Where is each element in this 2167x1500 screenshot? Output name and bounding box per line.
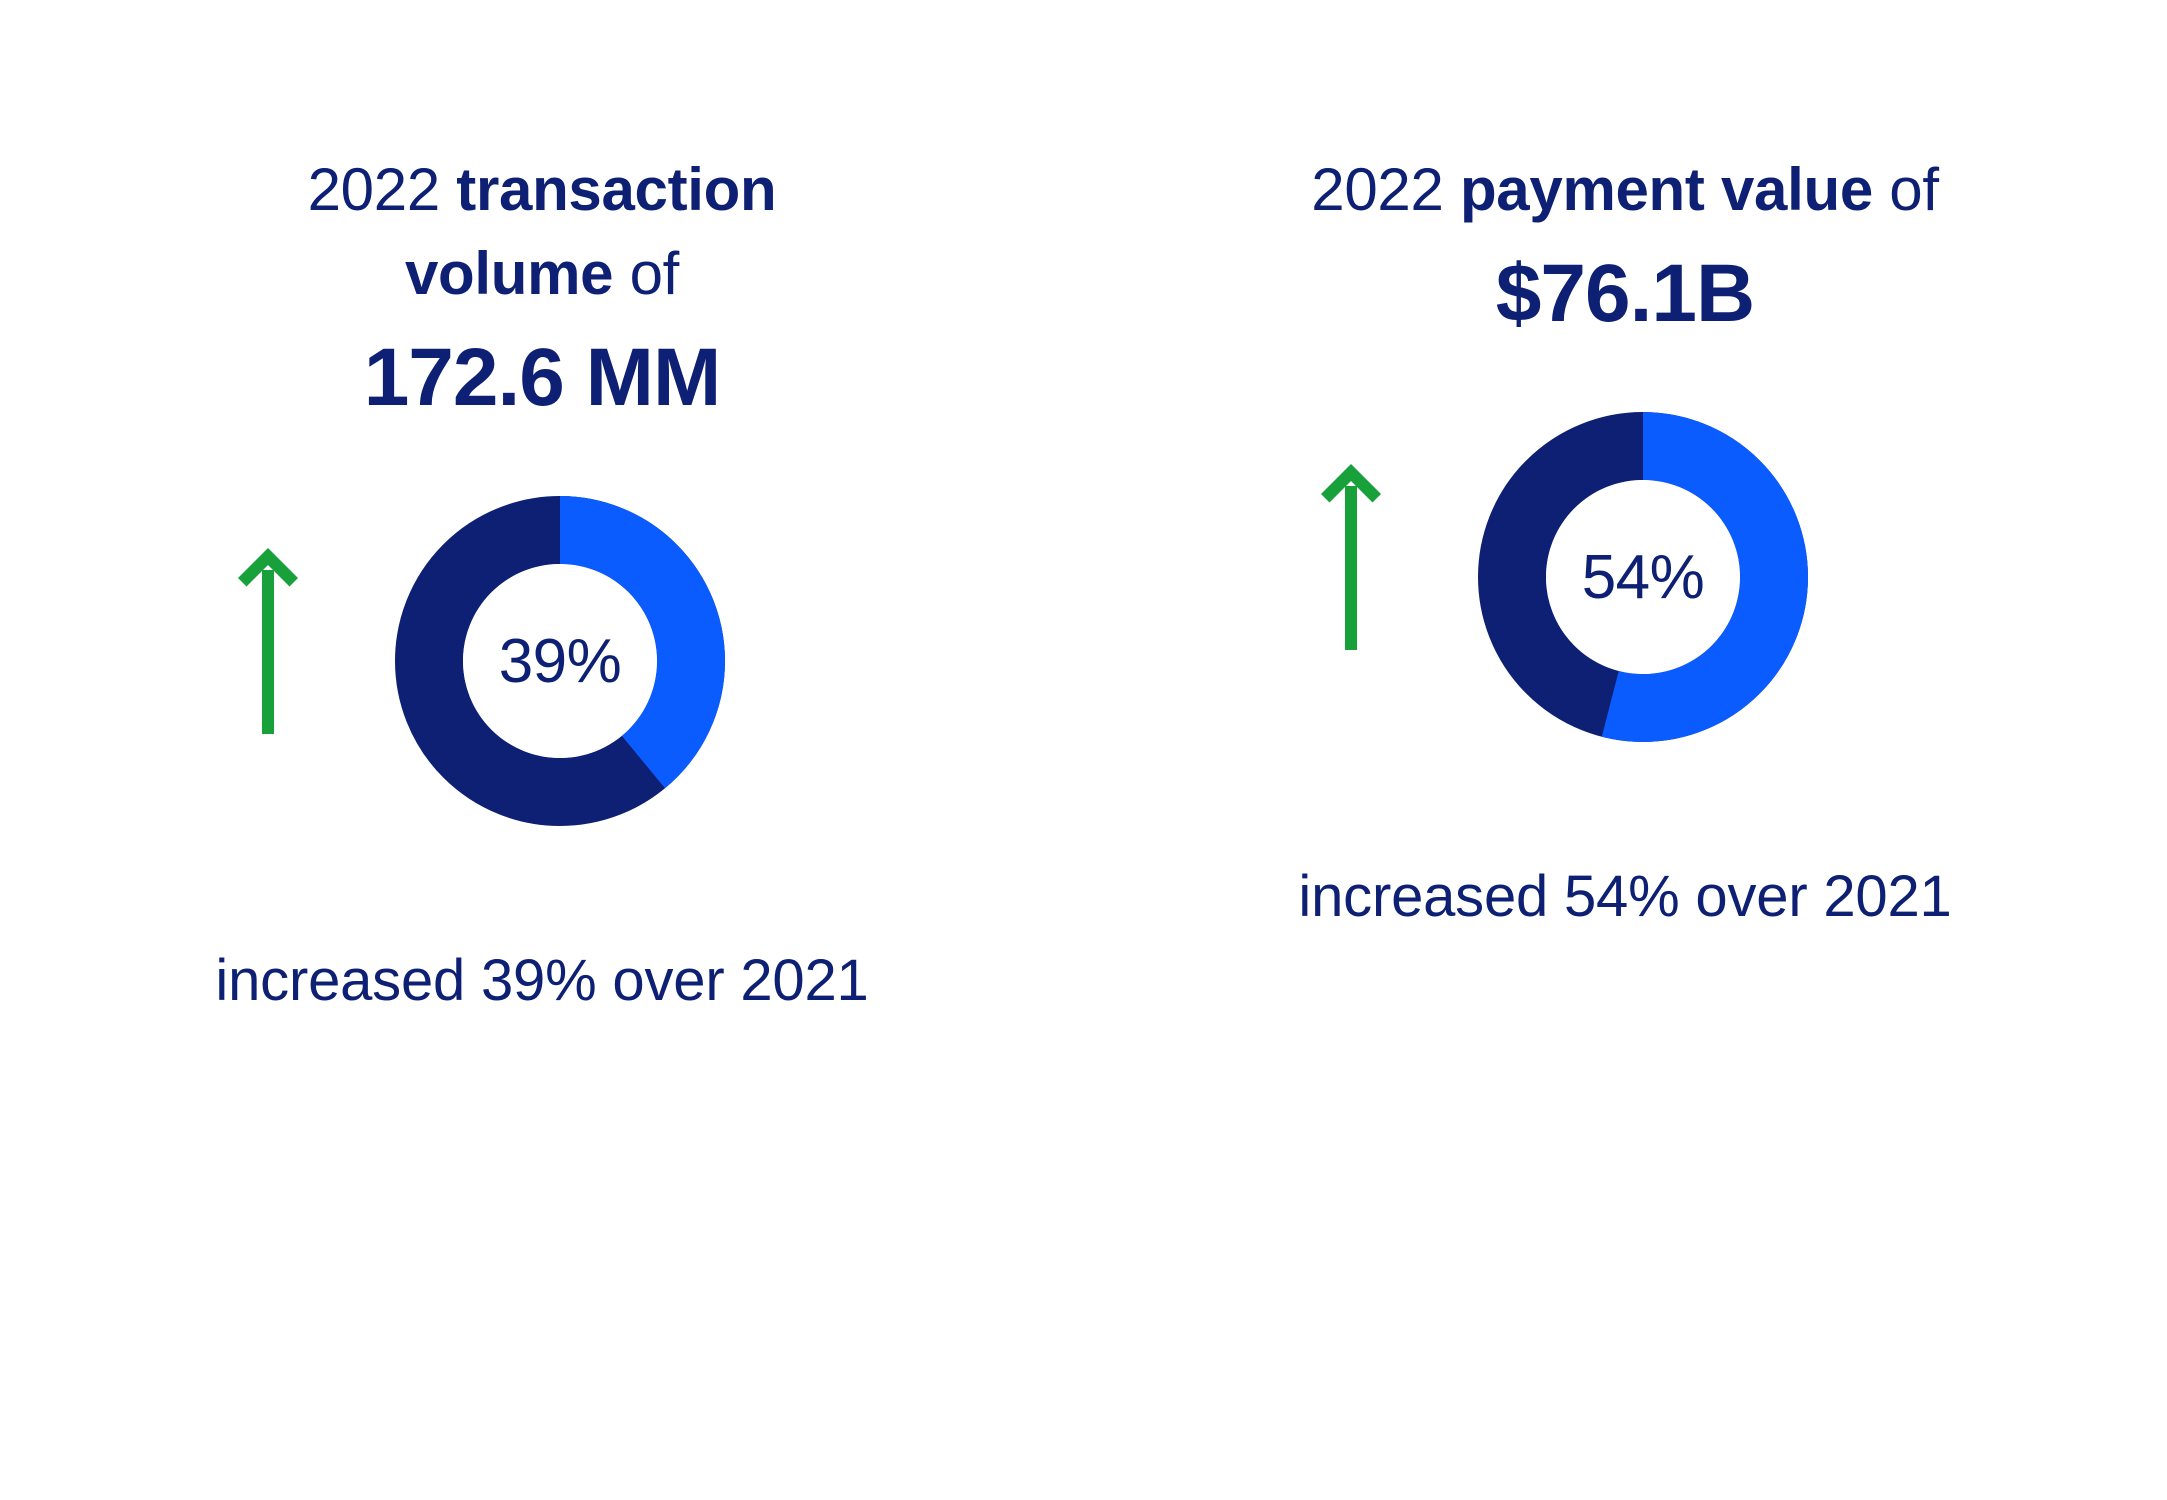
- stat-heading-year: 2022: [1311, 156, 1460, 223]
- stat-heading: 2022 transaction volume of: [212, 148, 872, 316]
- donut-chart-payment-value: 54%: [1478, 412, 1808, 742]
- stat-card-payment-value: 2022 payment value of $76.1B 54% increas…: [1084, 0, 2167, 1500]
- infographic-board: 2022 transaction volume of 172.6 MM 39%: [0, 0, 2167, 1500]
- arrow-up-icon: [236, 546, 300, 736]
- stat-heading-tail: of: [613, 240, 679, 307]
- stat-caption: increased 54% over 2021: [1295, 854, 1955, 940]
- arrow-up-icon: [1319, 462, 1383, 652]
- stat-heading-emphasis: payment value: [1460, 156, 1873, 223]
- stat-heading-emphasis: transaction volume: [405, 156, 776, 307]
- donut-row: 54%: [1295, 392, 1955, 762]
- donut-center-label: 39%: [395, 496, 725, 826]
- stat-caption: increased 39% over 2021: [212, 938, 872, 1024]
- donut-chart-transaction-volume: 39%: [395, 496, 725, 826]
- stat-heading-tail: of: [1873, 156, 1939, 223]
- stat-heading: 2022 payment value of: [1295, 148, 1955, 232]
- donut-row: 39%: [212, 476, 872, 846]
- stat-card-transaction-volume: 2022 transaction volume of 172.6 MM 39%: [1, 0, 1084, 1500]
- stat-value: $76.1B: [1245, 248, 2005, 340]
- donut-center-label: 54%: [1478, 412, 1808, 742]
- stat-value: 172.6 MM: [162, 332, 922, 424]
- stat-heading-year: 2022: [308, 156, 457, 223]
